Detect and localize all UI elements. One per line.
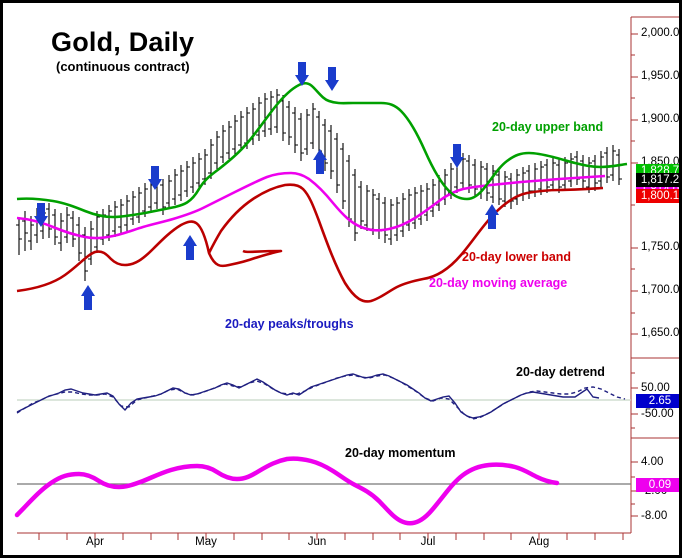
price-tick-1900: 1,900.0 bbox=[641, 113, 679, 125]
price-tick-1750: 1,750.0 bbox=[641, 241, 679, 253]
xaxis-label-jul: Jul bbox=[421, 536, 436, 548]
price-tick-1700: 1,700.0 bbox=[641, 284, 679, 296]
momentum-tick-4: 4.00 bbox=[641, 456, 663, 468]
detrend-tick-neg50: -50.00 bbox=[641, 408, 674, 420]
detrend-projection-line bbox=[17, 375, 625, 419]
peak-arrow-down bbox=[148, 166, 162, 190]
annotation-upper-band: 20-day upper band bbox=[492, 120, 603, 134]
detrend-line bbox=[17, 374, 599, 418]
momentum-tick-neg8: -8.00 bbox=[641, 510, 667, 522]
last-price-value-badge: 1,817.2 bbox=[636, 173, 682, 187]
peak-arrow-down bbox=[450, 144, 464, 168]
annotation-peaks-troughs: 20-day peaks/troughs bbox=[225, 317, 354, 331]
annotation-lower-band: 20-day lower band bbox=[462, 250, 571, 264]
trough-arrow-up bbox=[485, 204, 499, 229]
price-tick-2000: 2,000.0 bbox=[641, 27, 679, 39]
price-tick-1950: 1,950.0 bbox=[641, 70, 679, 82]
xaxis-label-may: May bbox=[195, 536, 217, 548]
detrend-tick-50: 50.00 bbox=[641, 382, 670, 394]
peak-arrow-down bbox=[325, 67, 339, 91]
axis-tick-marks bbox=[631, 34, 638, 516]
xaxis-label-aug: Aug bbox=[529, 536, 549, 548]
page-subtitle: (continuous contract) bbox=[56, 59, 190, 74]
momentum-line bbox=[17, 459, 557, 524]
trough-arrow-up bbox=[81, 285, 95, 310]
chart-window: Gold, Daily (continuous contract) 20-day… bbox=[0, 0, 682, 558]
xaxis-label-jun: Jun bbox=[308, 536, 327, 548]
lower-band-value-badge: 1,800.1 bbox=[636, 189, 682, 203]
detrend-value-badge: 2.65 bbox=[636, 394, 682, 408]
annotation-moving-average: 20-day moving average bbox=[429, 276, 567, 290]
annotation-momentum: 20-day momentum bbox=[345, 446, 455, 460]
xaxis-label-apr: Apr bbox=[86, 536, 104, 548]
price-tick-1650: 1,650.0 bbox=[641, 327, 679, 339]
page-title: Gold, Daily bbox=[51, 27, 194, 58]
chart-canvas bbox=[3, 3, 682, 558]
momentum-value-badge: 0.09 bbox=[636, 478, 682, 492]
annotation-detrend: 20-day detrend bbox=[516, 365, 605, 379]
trough-arrow-up bbox=[183, 235, 197, 260]
moving-average-line bbox=[17, 173, 605, 238]
